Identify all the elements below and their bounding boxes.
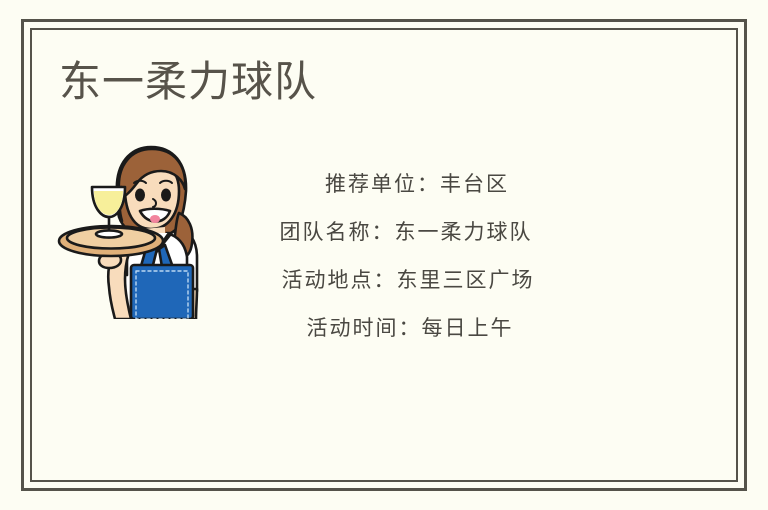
waitress-with-tray-illustration xyxy=(55,141,207,319)
info-block: 推荐单位：丰台区 团队名称：东一柔力球队 活动地点：东里三区广场 活动时间：每日… xyxy=(226,160,586,352)
info-line-recommending-unit: 推荐单位：丰台区 xyxy=(226,160,586,208)
info-value-activity-location: 东里三区广场 xyxy=(397,268,535,292)
info-value-team-name: 东一柔力球队 xyxy=(395,220,533,244)
info-line-activity-time: 活动时间：每日上午 xyxy=(226,304,586,352)
info-value-recommending-unit: 丰台区 xyxy=(440,172,509,196)
page-title: 东一柔力球队 xyxy=(59,56,317,109)
info-label-activity-time: 活动时间： xyxy=(307,316,422,340)
info-label-team-name: 团队名称： xyxy=(280,220,395,244)
poster-card: 东一柔力球队 xyxy=(0,0,768,510)
info-label-recommending-unit: 推荐单位： xyxy=(325,172,440,196)
info-label-activity-location: 活动地点： xyxy=(282,268,397,292)
info-line-team-name: 团队名称：东一柔力球队 xyxy=(226,208,586,256)
info-line-activity-location: 活动地点：东里三区广场 xyxy=(226,256,586,304)
info-value-activity-time: 每日上午 xyxy=(422,316,514,340)
